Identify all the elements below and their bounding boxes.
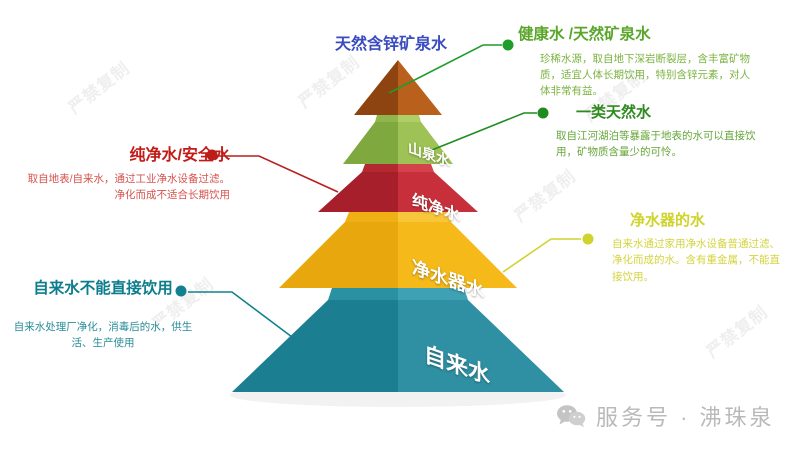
callout-health: 健康水 /天然矿泉水 珍稀水源，取自地下深岩断裂层，含丰富矿物质，适宜人体长期饮… [518,26,786,99]
callout-zinc-title: 天然含锌矿泉水 [335,30,447,54]
callout-natural-body: 取自江河湖泊等暴露于地表的水可以直接饮用，矿物质含量少的可怜。 [556,128,756,161]
tier-pure-left-face [318,172,398,212]
tier-pure-top-left [362,164,398,172]
tier-tap[interactable] [232,288,564,392]
connector-natural [432,108,549,151]
callout-filter: 净水器的水 自来水通过家用净水设备普通过滤、净化而成的水。含有重金属，不能直接饮… [612,212,797,285]
tier-apex-left-face [354,60,398,115]
callout-natural-title: 一类天然水 [556,104,786,122]
callout-tap-title: 自来水不能直接饮用 [8,280,198,299]
callout-health-body: 珍稀水源，取自地下深岩断裂层，含丰富矿物质，适宜人体长期饮用，特别含锌元素，对人… [518,51,760,100]
tier-tap-top-left [328,288,398,300]
tier-spring-left-face [343,122,398,164]
connector-health-dot [503,40,514,51]
tier-apex-right-face [398,60,442,115]
tier-filter-top-left [345,212,398,222]
callout-filter-title: 净水器的水 [612,212,797,230]
tier-spring-top-left [375,115,398,122]
tier-filter-left-face [279,222,398,288]
callout-tap: 自来水不能直接饮用 自来水处理厂净化，消毒后的水，供生活、生产使用 [8,280,198,351]
wechat-icon [556,404,586,428]
callout-health-title: 健康水 /天然矿泉水 [518,26,786,45]
connector-filter [503,234,594,273]
callout-filter-body: 自来水通过家用净水设备普通过滤、净化而成的水。含有重金属，不能直接饮用。 [612,236,787,285]
brand-footer: 服务号 · 沸珠泉 [556,400,775,432]
tier-apex[interactable] [354,60,442,115]
connector-natural-dot [538,108,549,119]
connector-filter-dot [583,234,594,245]
callout-natural: 一类天然水 取自江河湖泊等暴露于地表的水可以直接饮用，矿物质含量少的可怜。 [556,104,786,161]
callout-tap-body: 自来水处理厂净化，消毒后的水，供生活、生产使用 [8,319,198,352]
tier-pure-top-right [398,164,434,172]
callout-pure: 纯净水/安全水 取自地表/自来水，通过工业净水设备过滤。净化而成不适合长期饮用 [18,146,230,204]
tier-spring-top-right [398,115,421,122]
callout-pure-body: 取自地表/自来水，通过工业净水设备过滤。净化而成不适合长期饮用 [18,171,230,204]
infographic-canvas: 严禁复制 严禁复制 严禁复制 严禁复制 严禁复制 严禁复制 [0,0,800,450]
brand-name: 服务号 · 沸珠泉 [596,400,775,432]
callout-pure-title: 纯净水/安全水 [18,146,230,165]
tier-tap-left-face [232,300,398,392]
